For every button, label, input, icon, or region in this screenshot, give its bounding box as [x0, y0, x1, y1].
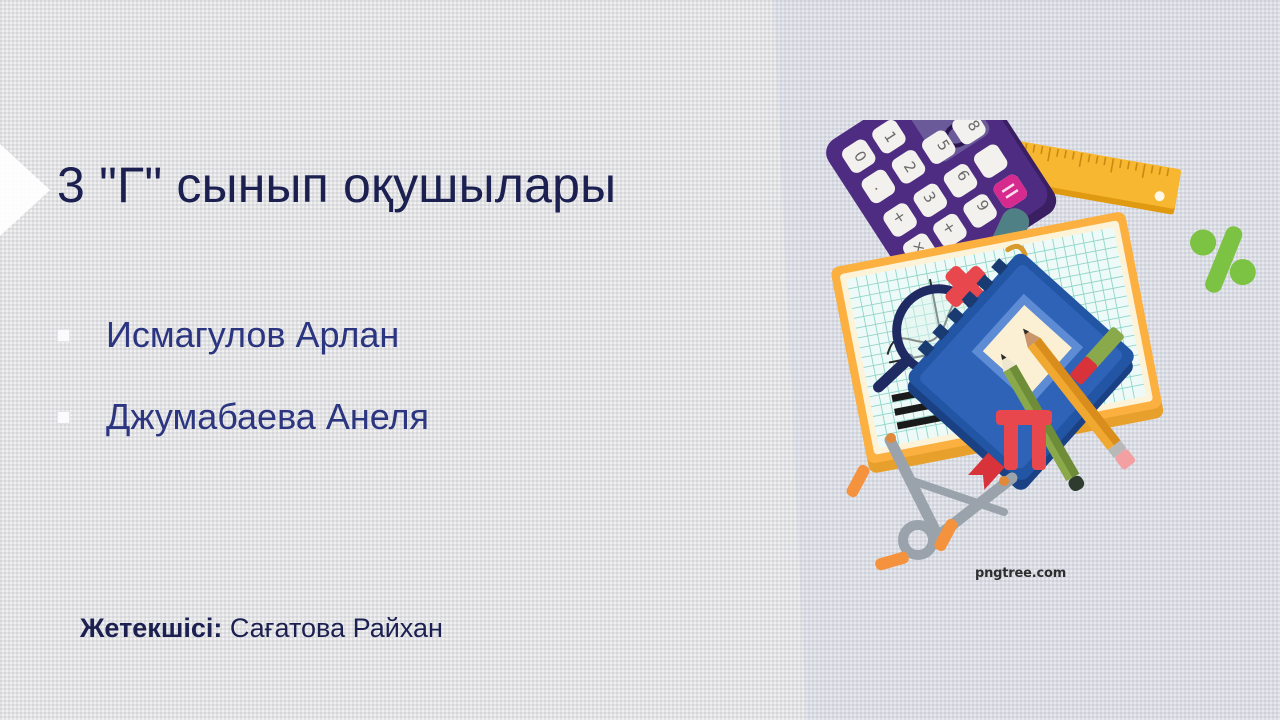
list-item: Джумабаева Анеля: [57, 376, 697, 458]
student-name: Джумабаева Анеля: [106, 397, 429, 437]
pngtree-watermark: pngtree.com: [975, 566, 1066, 581]
bullet-square-icon: [57, 411, 70, 424]
text-content-column: 3 "Г" сынып оқушылары Исмагулов Арлан Дж…: [0, 0, 790, 720]
percent-sign-icon: [1188, 221, 1259, 299]
slide-canvas: 3 "Г" сынып оқушылары Исмагулов Арлан Дж…: [0, 0, 1280, 720]
student-name: Исмагулов Арлан: [106, 315, 399, 355]
school-supplies-illustration: 78 45 69 12 3+ 0. +×: [790, 120, 1270, 600]
supervisor-label: Жетекшісі:: [80, 613, 222, 643]
supervisor-line: Жетекшісі: Сағатова Райхан: [80, 612, 443, 644]
bullet-square-icon: [57, 329, 70, 342]
student-list: Исмагулов Арлан Джумабаева Анеля: [57, 294, 697, 458]
supervisor-name: Сағатова Райхан: [230, 613, 443, 643]
page-title: 3 "Г" сынып оқушылары: [57, 158, 616, 213]
list-item: Исмагулов Арлан: [57, 294, 697, 376]
